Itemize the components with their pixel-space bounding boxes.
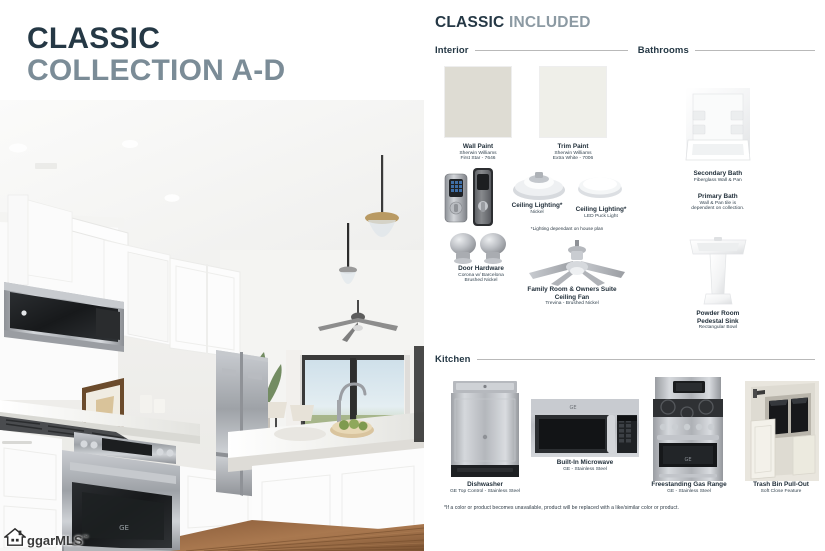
caption-ceiling-fan: Family Room & Owners Suite Ceiling Fan T…: [509, 286, 635, 307]
caption-door-hardware: Door Hardware Corona w/ Barcelona Brushe…: [437, 265, 525, 284]
pedestal-sink-icon: [686, 232, 750, 308]
caption-ceiling-lighting-nickel: Ceiling Lighting* Nickel: [501, 202, 573, 215]
caption-trash-pullout: Trash Bin Pull-Out Soft Close Feature: [737, 481, 825, 494]
kitchen-section-rule: [477, 359, 815, 360]
paint-item-wall: Wall Paint Sherwin Williams First Star -…: [444, 66, 512, 162]
page-title-line-2: COLLECTION A-D: [27, 55, 424, 87]
page-title-line-1: CLASSIC: [27, 23, 424, 55]
kitchen-section-label: Kitchen: [435, 354, 471, 365]
trash-pullout-icon: [745, 381, 819, 481]
brochure-page: CLASSIC COLLECTION A-D: [0, 0, 825, 551]
caption-primary-bath: Primary Bath Wall & Pan tile is dependen…: [662, 193, 774, 212]
interior-section-rule: [475, 50, 628, 51]
mls-watermark-label: ggarMLS™: [27, 534, 89, 547]
smart-lock-deadbolt-icon: [441, 168, 501, 230]
top-sections-row: Interior Wall Paint Sherwin Williams Fir…: [435, 45, 815, 350]
included-header: CLASSIC INCLUDED: [435, 14, 815, 32]
paint-caption-trim: Trim Paint Sherwin Williams Extra White …: [539, 143, 607, 162]
gas-range-icon: GE: [651, 375, 725, 483]
left-panel: CLASSIC COLLECTION A-D: [0, 0, 424, 551]
interior-products-group: Ceiling Lighting* Nickel Ceiling Lightin…: [435, 168, 628, 298]
right-panel: CLASSIC INCLUDED Interior Wall Paint She…: [424, 0, 825, 551]
included-header-word-included: INCLUDED: [509, 14, 591, 31]
over-range-microwave-icon: GE: [529, 397, 641, 459]
kitchen-section: Kitchen: [435, 354, 815, 511]
lighting-footnote: *Lighting dependant on house plan: [505, 226, 629, 231]
flush-mount-light-icon: [511, 170, 567, 202]
hero-kitchen-photo: GE: [0, 100, 424, 551]
interior-section-label: Interior: [435, 45, 469, 56]
caption-dishwasher: Dishwasher GE Top Control - Stainless St…: [435, 481, 535, 494]
paint-caption-wall: Wall Paint Sherwin Williams First Star -…: [444, 143, 512, 162]
mls-watermark: ggarMLS™: [4, 527, 89, 547]
caption-powder-room-sink: Powder Room Pedestal Sink Rectangular Bo…: [666, 310, 770, 331]
bathrooms-section-header: Bathrooms: [638, 45, 815, 56]
kitchen-section-header: Kitchen: [435, 354, 815, 365]
led-puck-light-icon: [577, 174, 623, 200]
ceiling-fan-icon: [525, 240, 629, 288]
paint-swatch-wall: [444, 66, 512, 138]
kitchen-products-group: Dishwasher GE Top Control - Stainless St…: [435, 369, 815, 497]
paint-swatch-group: Wall Paint Sherwin Williams First Star -…: [435, 60, 628, 162]
collection-title-block: CLASSIC COLLECTION A-D: [0, 3, 424, 101]
house-roof-icon: [4, 527, 26, 547]
bathtub-shower-surround-icon: [680, 84, 756, 166]
bathrooms-section-label: Bathrooms: [638, 45, 689, 56]
caption-gas-range: Freestanding Gas Range GE - Stainless St…: [635, 481, 743, 494]
interior-section-header: Interior: [435, 45, 628, 56]
dishwasher-icon: [447, 377, 523, 481]
bathrooms-section-rule: [695, 50, 815, 51]
interior-section: Interior Wall Paint Sherwin Williams Fir…: [435, 45, 628, 350]
included-header-word-classic: CLASSIC: [435, 14, 504, 31]
svg-text:GE: GE: [569, 405, 576, 411]
door-knob-icon: [447, 230, 511, 264]
caption-built-in-microwave: Built-In Microwave GE - Stainless Steel: [533, 459, 637, 472]
paint-swatch-trim: [539, 66, 607, 138]
bathrooms-section: Bathrooms: [638, 45, 815, 350]
bathrooms-products-group: Secondary Bath Fiberglass Wall & Pan Pri…: [638, 60, 815, 350]
caption-ceiling-lighting-puck: Ceiling Lighting* LED Puck Light: [568, 206, 634, 219]
paint-item-trim: Trim Paint Sherwin Williams Extra White …: [539, 66, 607, 162]
caption-secondary-bath: Secondary Bath Fiberglass Wall & Pan: [668, 170, 768, 183]
svg-text:GE: GE: [684, 457, 691, 463]
svg-text:GE: GE: [119, 524, 129, 532]
disclaimer-text: *If a color or product becomes unavailab…: [444, 505, 815, 511]
